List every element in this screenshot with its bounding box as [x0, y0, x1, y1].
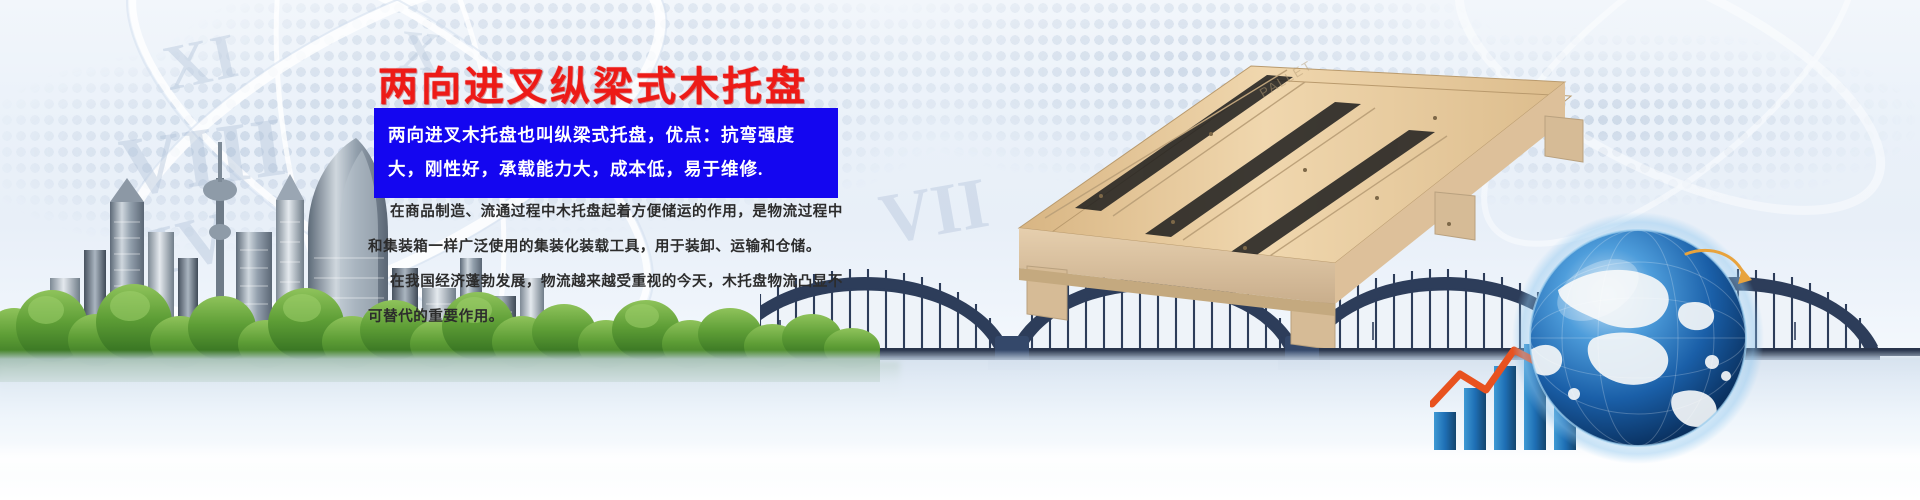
growth-bar-chart-image	[1430, 300, 1620, 450]
body-paragraph-3: 在我国经济蓬勃发展，物流越来越受重视的今天，木托盘物流凸显不	[368, 268, 868, 297]
page-title: 两向进叉纵梁式木托盘	[378, 54, 808, 112]
dot-matrix-world-map	[0, 0, 1920, 330]
roman-numeral-1: XI	[158, 23, 245, 101]
body-paragraph-2: 和集装箱一样广泛使用的集装化装载工具，用于装卸、运输和仓储。	[368, 233, 868, 262]
svg-text:PALLET: PALLET	[1257, 58, 1316, 101]
highlight-callout-box: 两向进叉木托盘也叫纵梁式托盘，优点：抗弯强度 大，刚性好，承载能力大，成本低，易…	[374, 108, 838, 198]
arch-bridge-image	[760, 248, 1920, 378]
earth-globe-image	[1498, 198, 1798, 498]
roman-numeral-3: IV	[143, 201, 239, 289]
water-sheen	[0, 442, 1920, 478]
highlight-line-2: 大，刚性好，承载能力大，成本低，易于维修.	[388, 152, 824, 186]
promotional-banner: XI VIII IV X VII	[0, 0, 1920, 500]
body-paragraph-4: 可替代的重要作用。	[368, 303, 868, 332]
tree-reflection	[0, 362, 900, 404]
wooden-pallet-image: PALLET	[1005, 58, 1625, 348]
body-paragraph-1: 在商品制造、流通过程中木托盘起着方便储运的作用，是物流过程中	[368, 198, 868, 227]
orbit-swoosh-secondary-icon	[1360, 0, 1920, 280]
roman-numeral-right-decor: VII	[874, 161, 995, 262]
water-reflection-image	[0, 350, 1920, 500]
roman-numeral-2: VIII	[115, 105, 292, 211]
body-copy: 在商品制造、流通过程中木托盘起着方便储运的作用，是物流过程中 和集装箱一样广泛使…	[368, 198, 868, 338]
highlight-line-1: 两向进叉木托盘也叫纵梁式托盘，优点：抗弯强度	[388, 118, 824, 152]
